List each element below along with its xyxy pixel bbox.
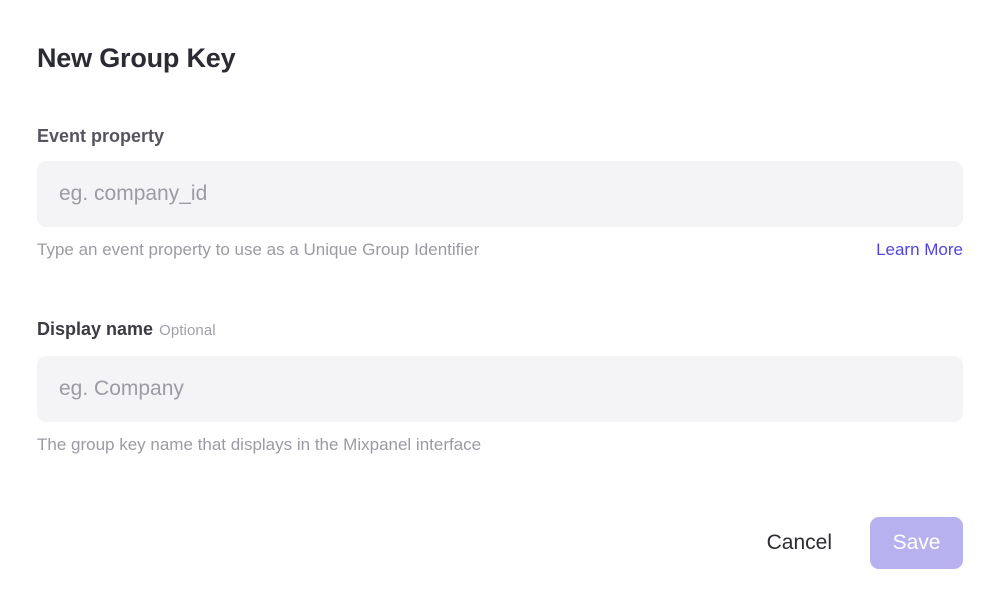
display-name-helper-text: The group key name that displays in the … (37, 434, 481, 456)
learn-more-link[interactable]: Learn More (876, 239, 963, 261)
page-title: New Group Key (37, 0, 963, 76)
save-button[interactable]: Save (870, 517, 963, 569)
display-name-input[interactable] (37, 356, 963, 422)
field-spacer (37, 287, 963, 317)
field-group-event-property: Event property Type an event property to… (37, 124, 963, 261)
new-group-key-dialog: New Group Key Event property Type an eve… (0, 0, 1000, 608)
event-property-helper-row: Type an event property to use as a Uniqu… (37, 239, 963, 261)
display-name-label: Display nameOptional (37, 317, 963, 343)
form-body: Event property Type an event property to… (37, 76, 963, 456)
display-name-helper-row: The group key name that displays in the … (37, 434, 963, 456)
event-property-helper-text: Type an event property to use as a Uniqu… (37, 239, 479, 261)
event-property-label: Event property (37, 124, 963, 148)
field-group-display-name: Display nameOptional The group key name … (37, 317, 963, 456)
cancel-button[interactable]: Cancel (757, 518, 842, 568)
dialog-footer: Cancel Save (757, 517, 963, 569)
event-property-input[interactable] (37, 161, 963, 227)
display-name-label-text: Display name (37, 319, 153, 339)
optional-tag: Optional (159, 322, 216, 339)
